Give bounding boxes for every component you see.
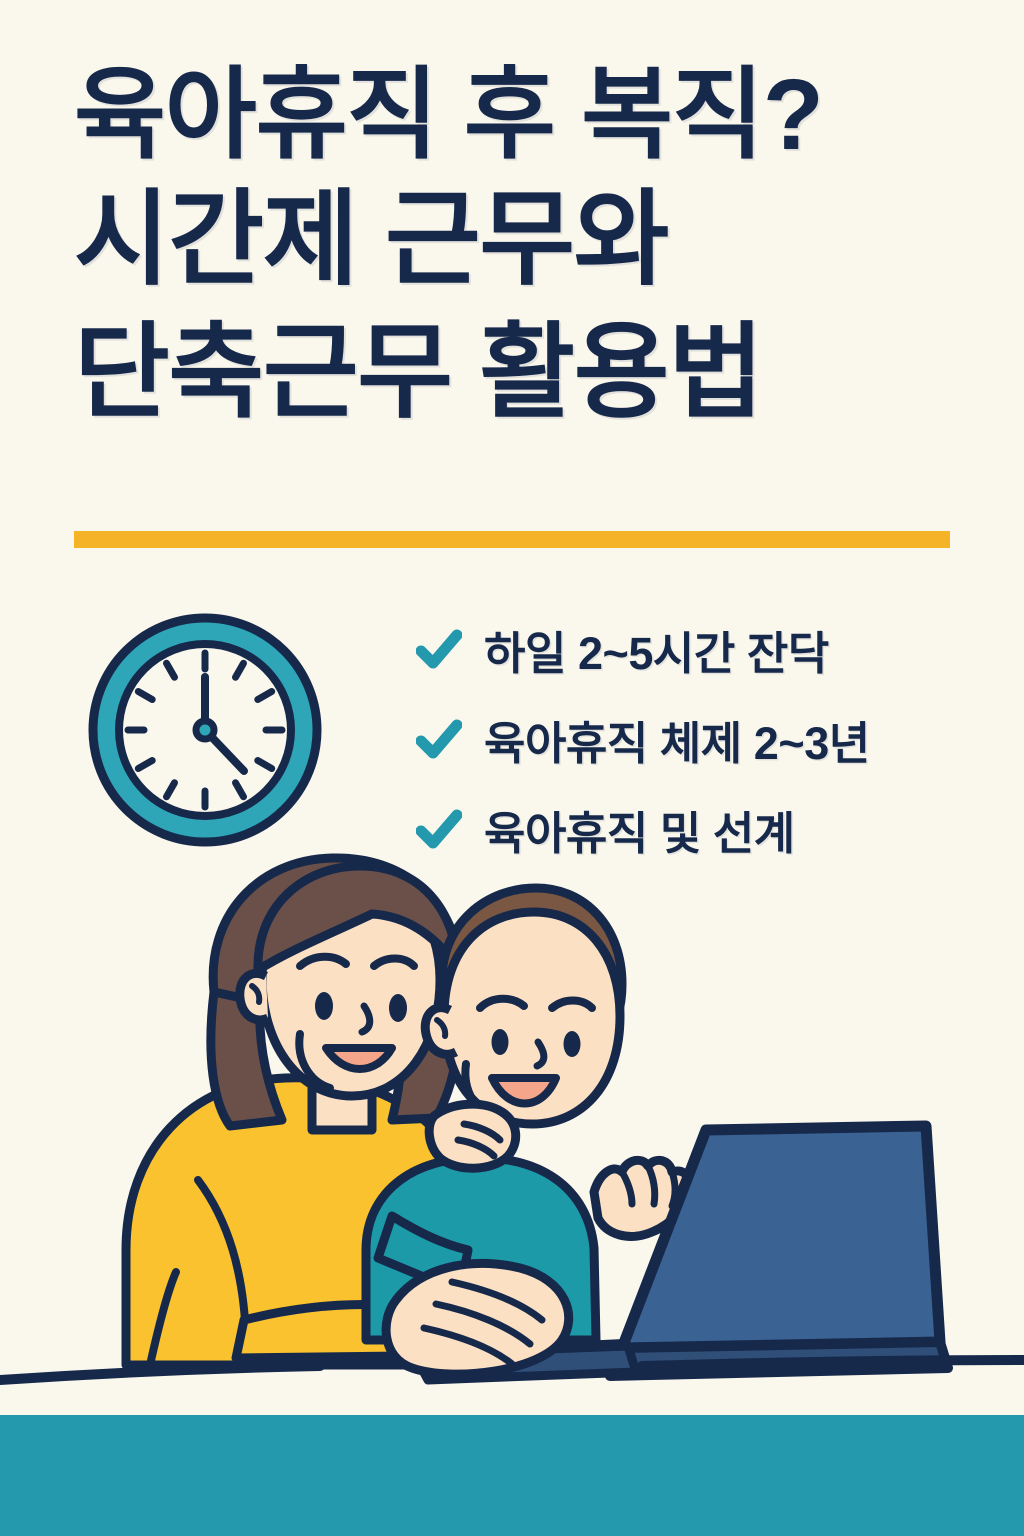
title-line-3: 단축근무 활용법 xyxy=(74,307,964,440)
check-icon xyxy=(416,628,462,670)
list-item: 육아휴직 체제 2~3년 xyxy=(416,694,986,784)
mother-child-laptop-illustration xyxy=(0,820,1024,1420)
title-divider xyxy=(74,531,950,548)
list-item-label: 육아휴직 체제 2~3년 xyxy=(484,707,870,772)
poster-canvas: 육아휴직 후 복직? 시간제 근무와 단축근무 활용법 xyxy=(0,0,1024,1536)
list-item-label: 하일 2~5시간 잔닥 xyxy=(484,617,829,682)
list-item: 하일 2~5시간 잔닥 xyxy=(416,604,986,694)
title-line-2: 시간제 근무와 xyxy=(74,174,964,307)
check-icon xyxy=(416,718,462,760)
clock-icon xyxy=(80,605,330,855)
title-line-1: 육아휴직 후 복직? xyxy=(74,56,964,174)
footer-band xyxy=(0,1415,1024,1536)
page-title: 육아휴직 후 복직? 시간제 근무와 단축근무 활용법 xyxy=(74,56,964,440)
